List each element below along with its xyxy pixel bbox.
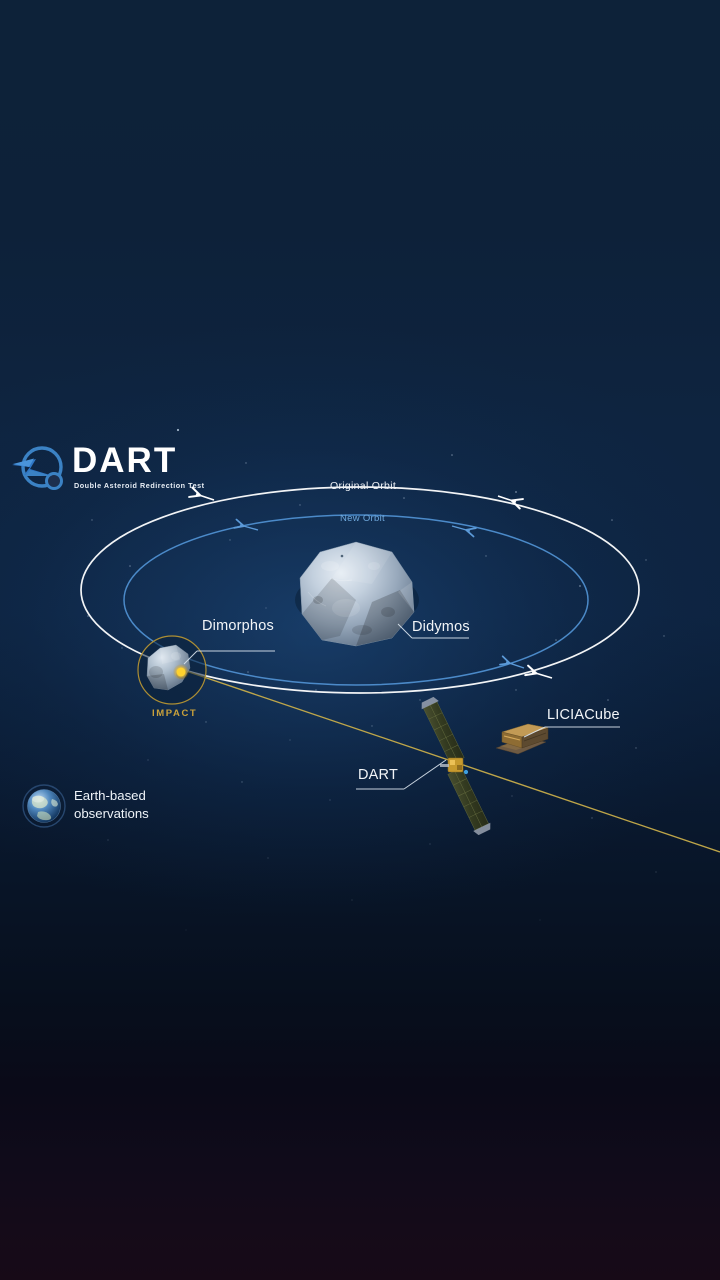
- earth-observations-label: Earth-based observations: [74, 787, 149, 823]
- dart-wordmark: DART: [72, 443, 177, 479]
- dart-logo: DART Double Asteroid Redirection Test: [10, 443, 210, 495]
- orbit-new-label: New Orbit: [340, 513, 385, 524]
- dart-tagline: Double Asteroid Redirection Test: [74, 481, 205, 490]
- orbit-original-label: Original Orbit: [330, 480, 396, 492]
- liciacube-cubesat-icon: [496, 724, 548, 754]
- asteroid-didymos-icon: [295, 542, 419, 646]
- asteroid-dimorphos-icon: [138, 636, 206, 704]
- liciacube-label: LICIACube: [547, 707, 620, 723]
- dart-spacecraft-icon: [419, 696, 493, 837]
- impact-label: IMPACT: [152, 708, 197, 719]
- earth-observations-line1: Earth-based: [74, 787, 149, 805]
- scene-graphics: [0, 0, 720, 1280]
- didymos-label: Didymos: [412, 619, 470, 635]
- dimorphos-label: Dimorphos: [202, 618, 274, 634]
- dart-orbit-logo-icon: [10, 445, 68, 493]
- dart-mission-diagram: DART Double Asteroid Redirection Test Or…: [0, 0, 720, 1280]
- earth-observations-block: Earth-based observations: [22, 784, 222, 834]
- earth-observations-line2: observations: [74, 805, 149, 823]
- dart-label: DART: [358, 767, 398, 783]
